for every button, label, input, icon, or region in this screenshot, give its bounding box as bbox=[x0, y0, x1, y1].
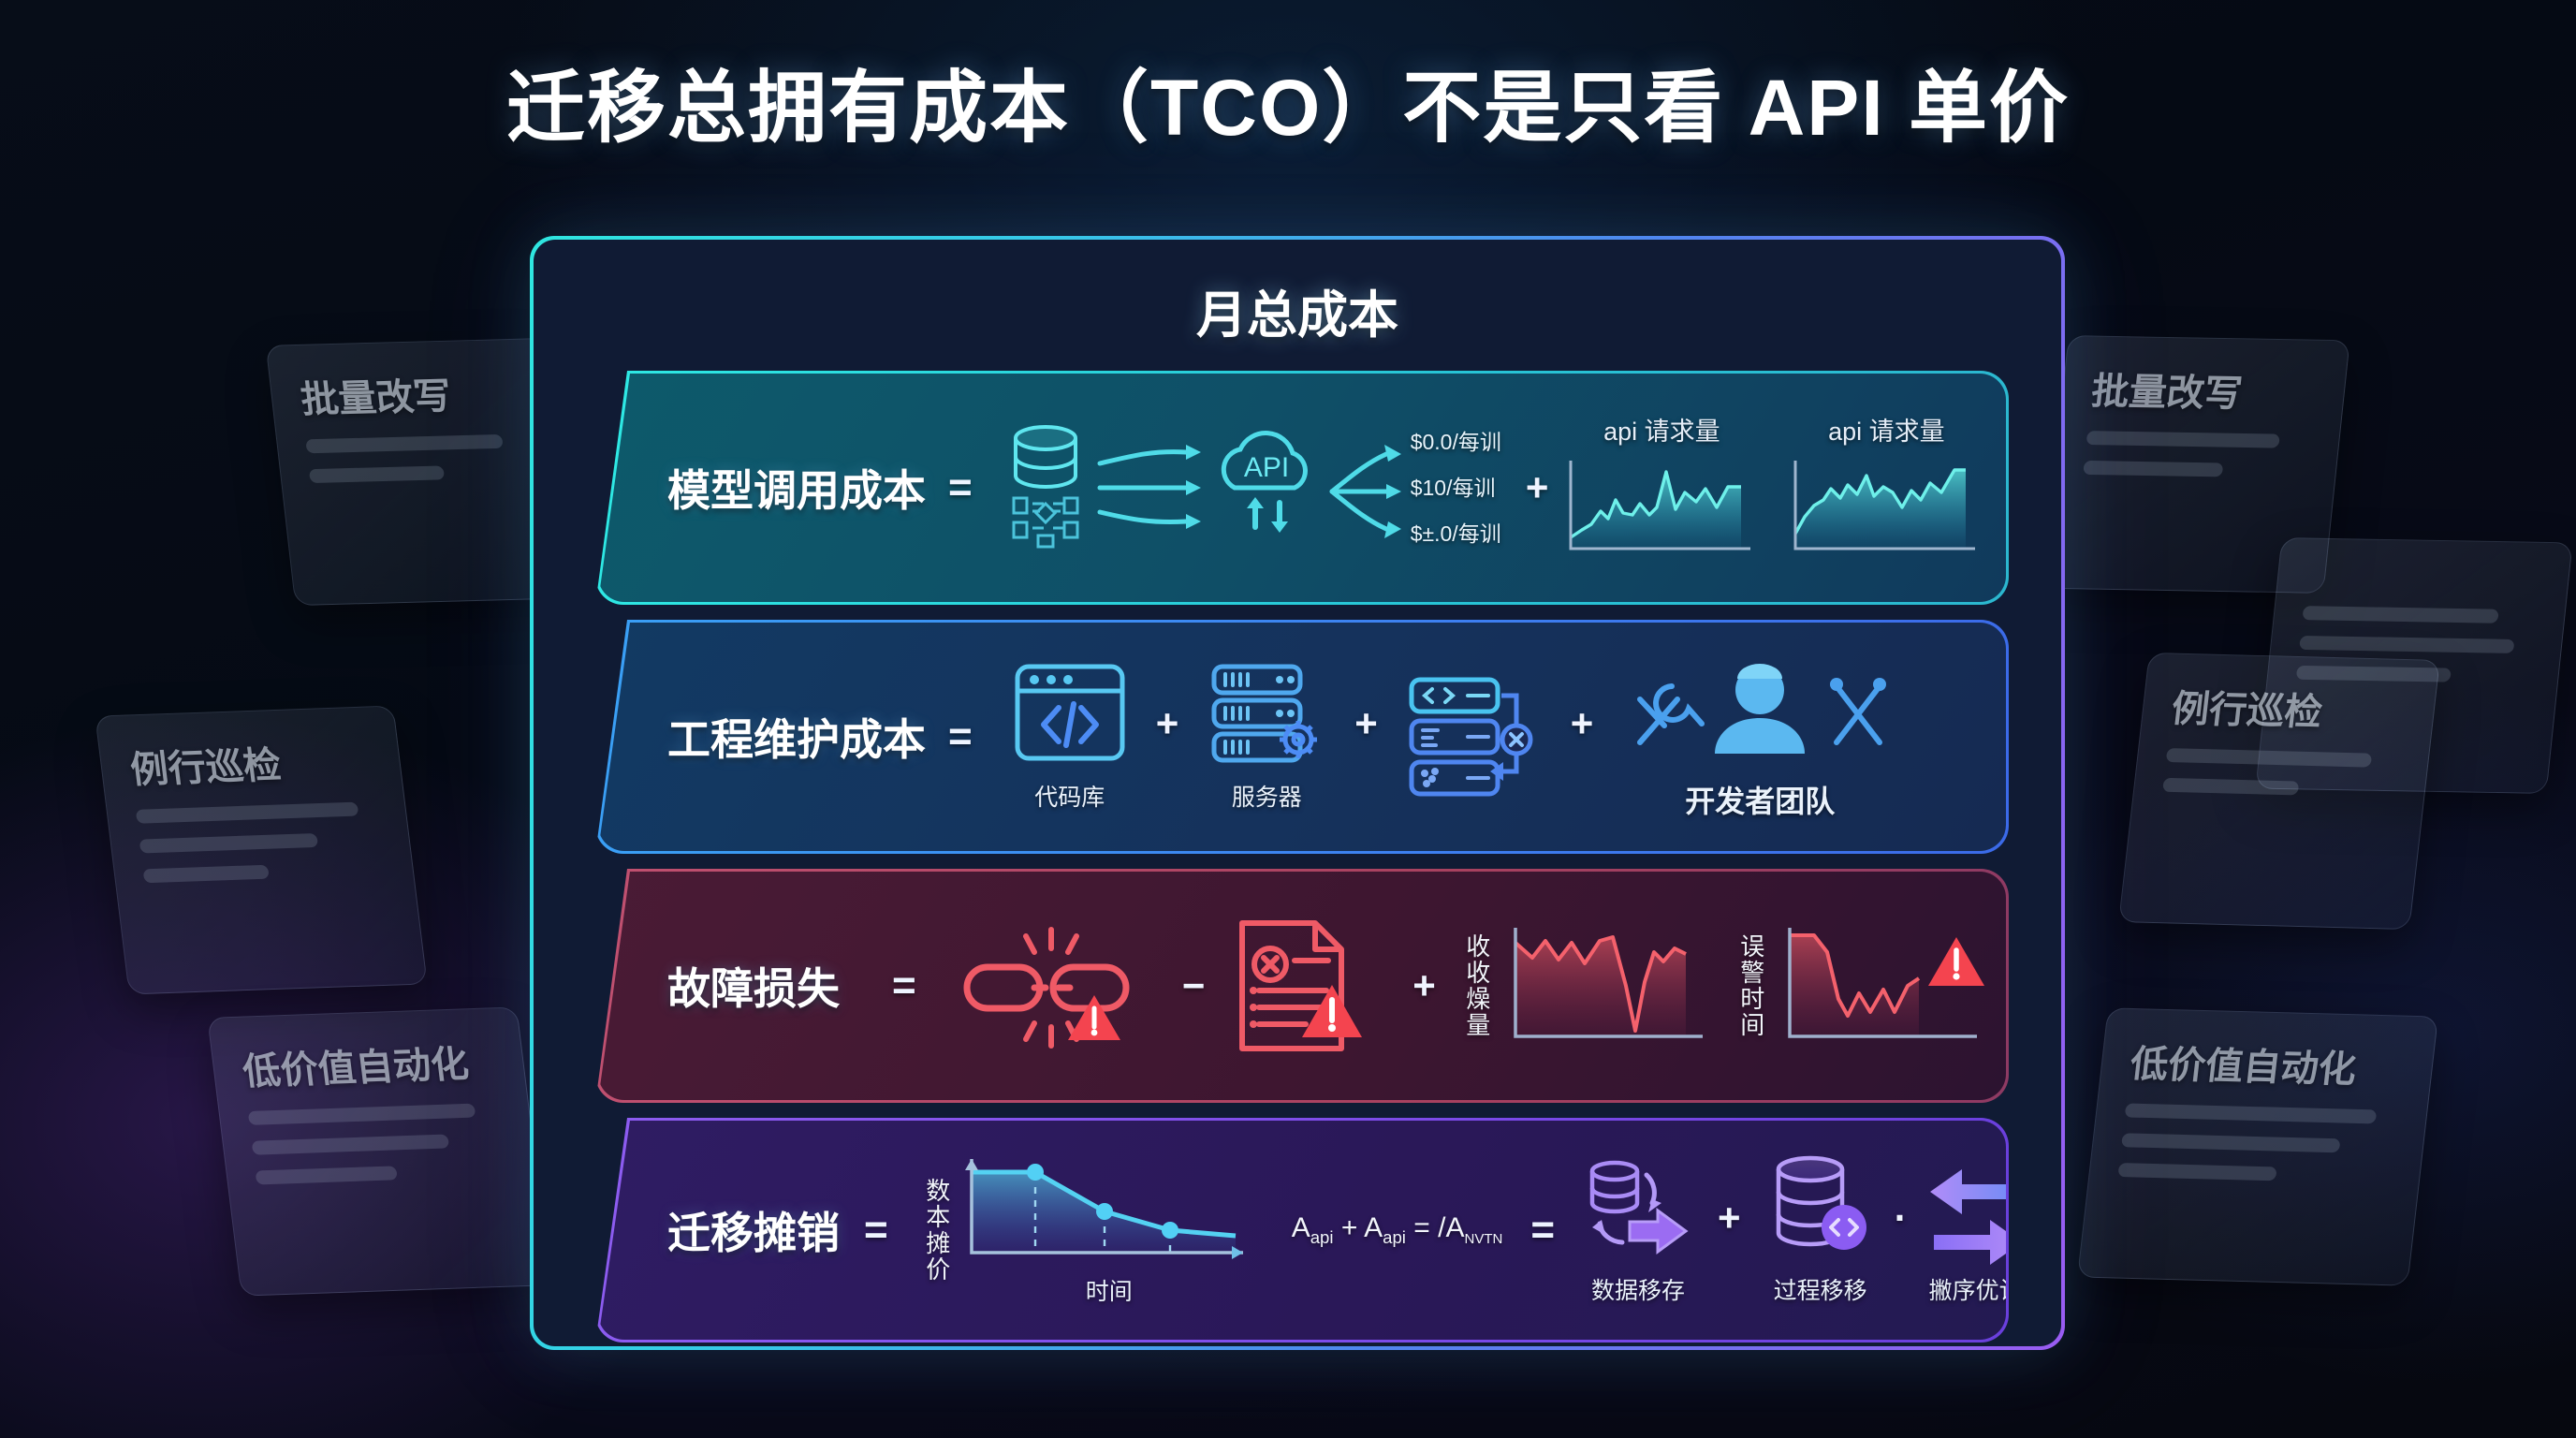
equals-sign: = bbox=[864, 1207, 888, 1254]
ghost-card-label: 批量改写 bbox=[298, 364, 527, 424]
page-title: 迁移总拥有成本（TCO）不是只看 API 单价 bbox=[0, 45, 2576, 158]
icon-caption: 代码库 bbox=[1034, 779, 1105, 813]
infographic-stage: 迁移总拥有成本（TCO）不是只看 API 单价 批量改写 例行巡检 低价值自动化… bbox=[0, 0, 2576, 1438]
row-label: 工程维护成本 bbox=[667, 706, 926, 768]
price-label: $±.0/每训 bbox=[1411, 523, 1501, 545]
price-arrows-icon bbox=[1328, 422, 1409, 553]
ghost-line bbox=[248, 1104, 476, 1125]
chart-caption: api 请求量 bbox=[1603, 411, 1720, 448]
icon-caption: 撇序优计 bbox=[1929, 1272, 2023, 1306]
data-migration-icon: 数据移存 bbox=[1577, 1154, 1699, 1306]
ghost-card-label: 批量改写 bbox=[2089, 361, 2319, 419]
dot-operator: · bbox=[1895, 1196, 1908, 1240]
ghost-card-right-4: 低价值自动化 bbox=[2077, 1007, 2438, 1285]
plus-sign: + bbox=[1571, 701, 1594, 746]
api-request-chart-2: api 请求量 bbox=[1788, 411, 1984, 565]
ghost-line bbox=[2162, 778, 2299, 796]
error-document-warning-icon bbox=[1229, 916, 1388, 1056]
alert-time-chart bbox=[1777, 920, 1992, 1051]
price-label: $0.0/每训 bbox=[1411, 432, 1501, 453]
ghost-card-label: 低价值自动化 bbox=[240, 1033, 498, 1095]
equals-sign: = bbox=[892, 962, 916, 1009]
ghost-line bbox=[2166, 748, 2373, 768]
flow-arrows-icon bbox=[1094, 422, 1207, 553]
icon-caption: 服务器 bbox=[1232, 779, 1302, 813]
database-icon bbox=[1004, 418, 1094, 558]
cost-decay-chart bbox=[955, 1153, 1264, 1271]
server-gear-icon: 服务器 bbox=[1205, 661, 1328, 813]
row-label: 故障损失 bbox=[667, 955, 840, 1017]
api-cloud-icon: API bbox=[1207, 422, 1328, 553]
api-request-chart-1: api 请求量 bbox=[1563, 411, 1760, 565]
ghost-line bbox=[2299, 636, 2515, 653]
plus-sign: + bbox=[1718, 1196, 1741, 1240]
chart-axis-label: 误警时间 bbox=[1734, 933, 1769, 1038]
plus-sign: + bbox=[1156, 701, 1179, 746]
ghost-line bbox=[256, 1166, 398, 1184]
ghost-line bbox=[252, 1134, 450, 1154]
chart-y-axis-label: 数本摊价 bbox=[920, 1178, 955, 1283]
plus-sign: + bbox=[1412, 963, 1436, 1008]
ghost-line bbox=[2086, 431, 2280, 448]
broken-chain-warning-icon bbox=[961, 920, 1158, 1051]
ghost-line bbox=[136, 802, 359, 824]
ghost-line bbox=[309, 465, 445, 483]
chart-axis-label: 收收燥量 bbox=[1460, 933, 1495, 1038]
ghost-line bbox=[139, 833, 319, 854]
ghost-line bbox=[143, 865, 270, 884]
icon-caption: 过程移移 bbox=[1774, 1272, 1867, 1306]
amortization-formula: Aapi + Aapi = /ANVTN bbox=[1292, 1212, 1503, 1248]
process-migration-icon: 过程移移 bbox=[1760, 1154, 1881, 1306]
ghost-card-label: 例行巡检 bbox=[2169, 679, 2408, 739]
ghost-line bbox=[2125, 1103, 2377, 1123]
row-label: 迁移摊销 bbox=[667, 1199, 840, 1261]
ghost-line bbox=[305, 434, 504, 453]
row-label: 模型调用成本 bbox=[667, 457, 926, 519]
equals-sign-2: = bbox=[1530, 1207, 1555, 1254]
row-engineering-maintenance-cost[interactable]: 工程维护成本 = 代码库 + bbox=[595, 620, 2009, 854]
plus-sign: + bbox=[1354, 701, 1378, 746]
price-label: $10/每训 bbox=[1411, 477, 1501, 499]
svg-text:API: API bbox=[1244, 452, 1289, 483]
row-migration-amortization[interactable]: 迁移摊销 = 数本摊价 bbox=[595, 1118, 2009, 1343]
icon-caption: 开发者团队 bbox=[1685, 778, 1835, 821]
chart-x-axis-label: 时间 bbox=[1086, 1273, 1133, 1307]
total-cost-panel: 月总成本 模型调用成本 = bbox=[530, 236, 2065, 1350]
row-model-invocation-cost[interactable]: 模型调用成本 = bbox=[595, 371, 2009, 605]
ghost-card-left-2: 例行巡检 bbox=[95, 706, 428, 995]
plus-sign: + bbox=[1526, 465, 1549, 510]
ghost-card-label: 低价值自动化 bbox=[2128, 1034, 2407, 1094]
equals-sign: = bbox=[948, 713, 973, 760]
ghost-card-right-3: 例行巡检 bbox=[2118, 653, 2440, 930]
ghost-card-label: 例行巡检 bbox=[127, 731, 374, 794]
icon-caption: 数据移存 bbox=[1591, 1272, 1685, 1306]
revenue-drop-chart bbox=[1502, 920, 1718, 1051]
row-failure-loss[interactable]: 故障损失 = bbox=[595, 869, 2009, 1103]
ghost-line bbox=[2083, 461, 2223, 477]
equals-sign: = bbox=[948, 464, 973, 511]
chart-caption: api 请求量 bbox=[1828, 411, 1945, 448]
panel-title: 月总成本 bbox=[534, 273, 2061, 347]
code-repo-icon: 代码库 bbox=[1010, 661, 1130, 813]
ghost-line bbox=[2302, 606, 2499, 624]
cicd-pipeline-icon bbox=[1404, 676, 1544, 798]
developer-team-icon: 开发者团队 bbox=[1619, 653, 1900, 821]
minus-sign: − bbox=[1182, 963, 1206, 1008]
ghost-line bbox=[2117, 1163, 2276, 1181]
ghost-card-left-3: 低价值自动化 bbox=[207, 1006, 551, 1296]
swap-arrows-icon: 撇序优计 bbox=[1921, 1154, 2031, 1306]
ghost-line bbox=[2121, 1133, 2341, 1152]
